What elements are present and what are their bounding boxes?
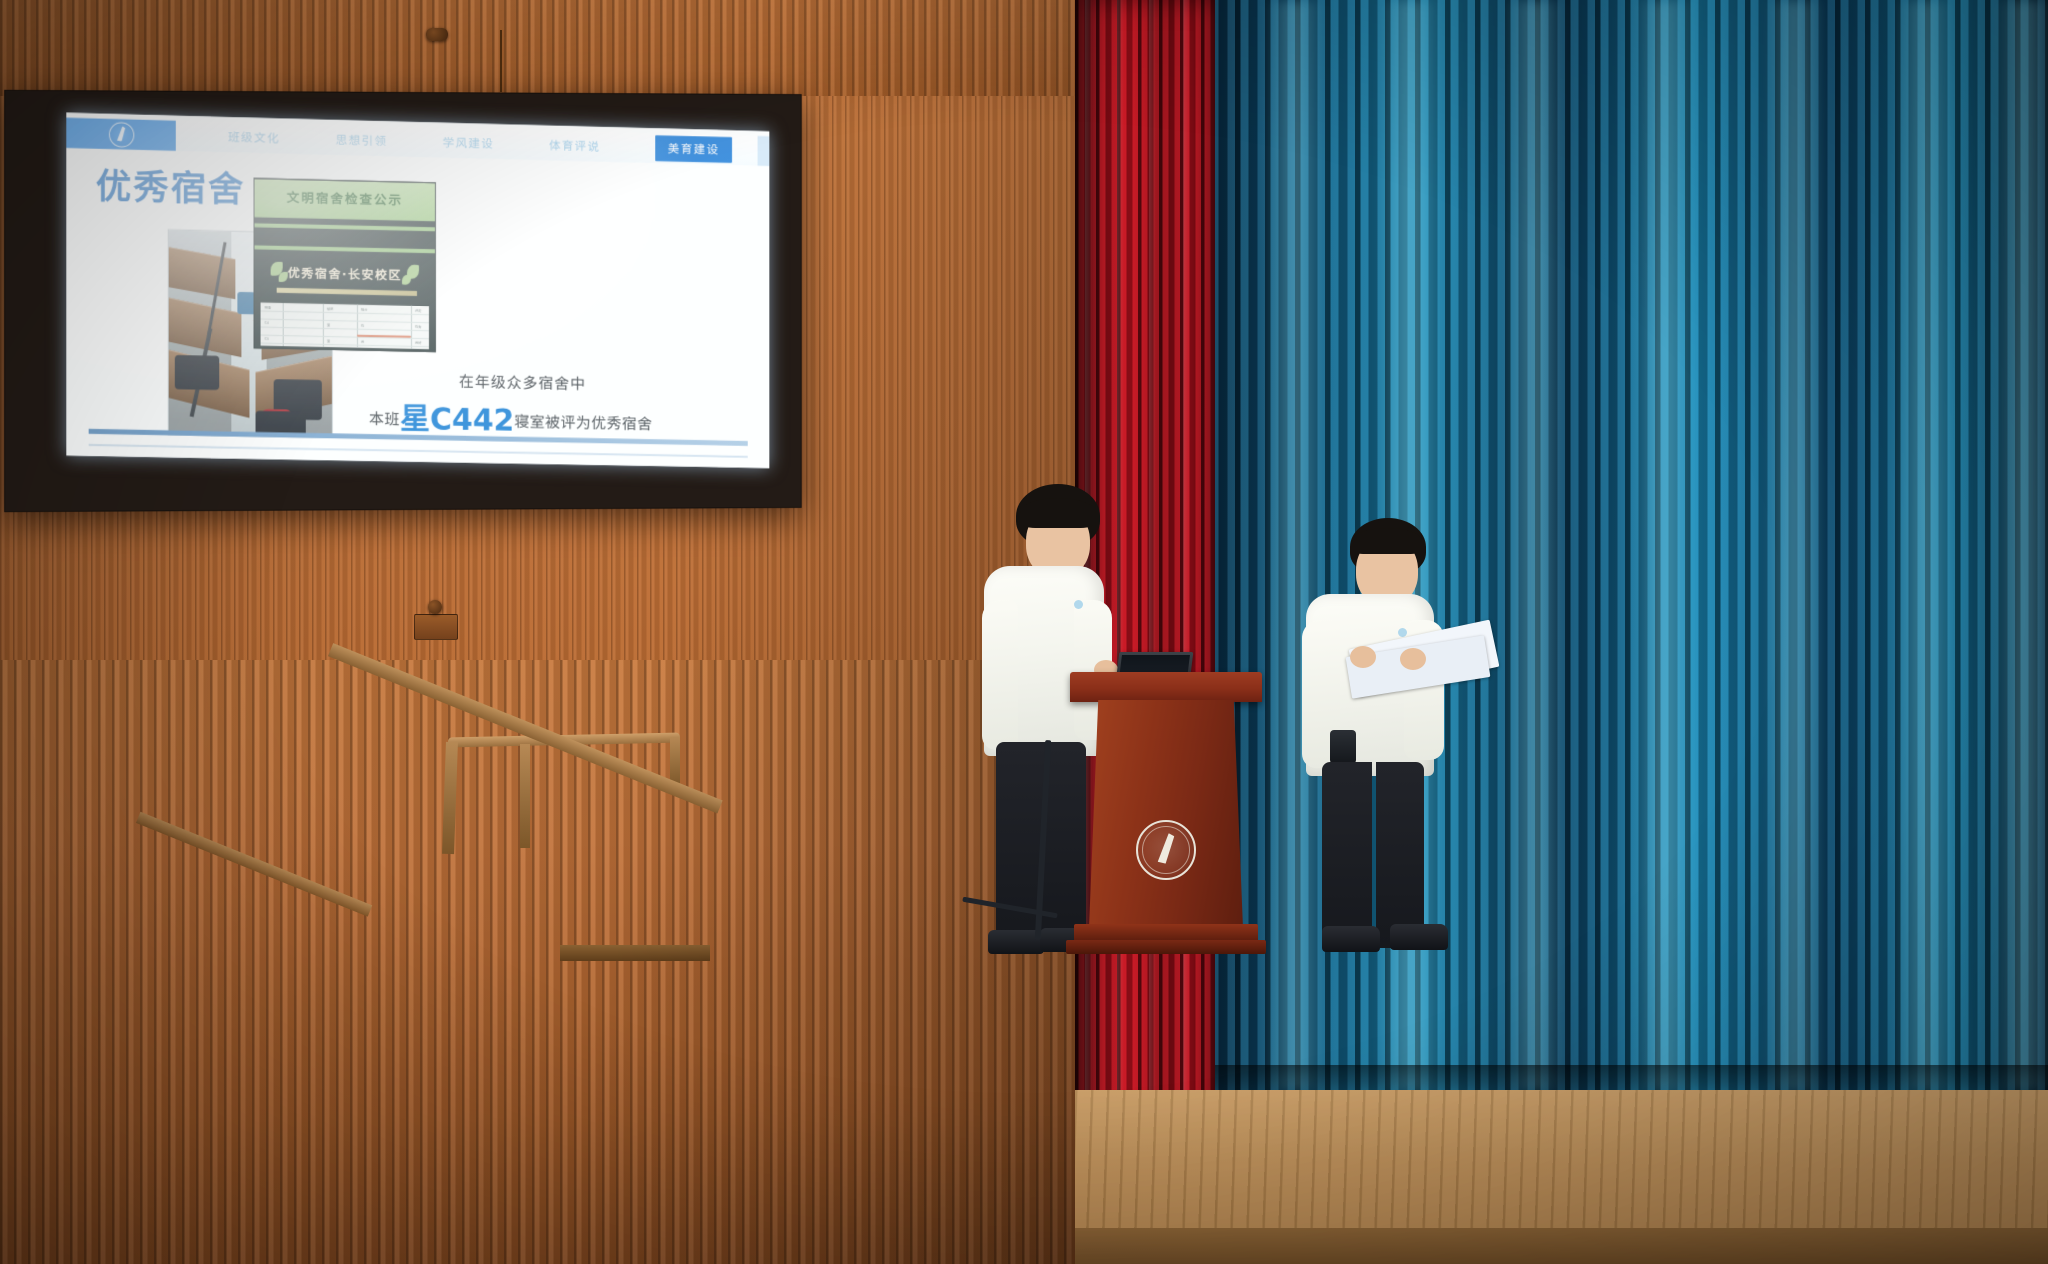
handrail-post-mid — [520, 744, 530, 848]
slide-nav-item-0[interactable]: 班级文化 — [228, 129, 280, 146]
presenter2-left-leg — [1322, 762, 1372, 950]
notice-cell-7: 优秀 — [415, 324, 421, 329]
scene-root: 班级文化 思想引领 学风建设 体育评说 美育建设 优秀宿舍 — [0, 0, 2048, 1264]
notice-cell-3: 评定 — [415, 308, 421, 313]
presenter2-right-leg — [1376, 762, 1424, 948]
notice-cell-2: 得分 — [361, 307, 367, 312]
stage-floor-front-edge — [1075, 1228, 2048, 1264]
slide-footer-bar-thin — [89, 444, 748, 458]
presenter2-pocket-device — [1330, 730, 1356, 764]
caption-suffix: 寝室被评为优秀宿舍 — [514, 413, 652, 434]
slide-nav-items: 班级文化 思想引领 学风建设 体育评说 美育建设 — [176, 121, 770, 166]
slide-nav-item-2[interactable]: 学风建设 — [443, 135, 494, 152]
slide-nav-right-edge — [758, 136, 770, 166]
stair-step — [560, 945, 710, 961]
presenter2-hoodie-logo — [1398, 628, 1407, 637]
wall-outlet-plate — [414, 614, 458, 640]
wall-fixture-knob — [426, 28, 448, 41]
slide-caption-line1: 在年级众多宿舍中 — [459, 371, 586, 394]
notice-score-table: 宿舍 楼层 得分 评定 C4 星 优 优秀 C5 星 良 良好 — [261, 303, 429, 350]
notice-subtitle-band: 优秀宿舍·长安校区 — [255, 257, 435, 297]
crest-inner-ring — [1142, 826, 1190, 874]
wooden-wall-top-trim — [0, 0, 1075, 96]
presenter1-fringe — [1020, 498, 1096, 528]
notice-cell-0: 宿舍 — [265, 305, 271, 310]
slide-logo-container — [66, 118, 176, 151]
caption-prefix: 本班 — [369, 410, 400, 429]
wooden-wall-lower-panel — [0, 660, 1075, 1264]
presenter2-right-shoe — [1390, 924, 1448, 950]
slide-nav-item-3[interactable]: 体育评说 — [549, 137, 600, 154]
presenter2-left-shoe — [1322, 926, 1380, 952]
podium-top-surface — [1070, 672, 1262, 702]
university-seal-logo — [108, 121, 133, 147]
presenter2-left-hand — [1350, 646, 1376, 668]
notice-cell-9: 星 — [327, 338, 330, 343]
notice-cell-4: C4 — [265, 321, 269, 325]
podium-plinth — [1066, 940, 1266, 954]
university-crest-emblem — [1136, 820, 1196, 880]
notice-cell-11: 良好 — [415, 340, 421, 345]
notice-header-band: 文明宿舍检查公示 — [255, 179, 435, 221]
slide-title: 优秀宿舍 — [96, 158, 246, 213]
presentation-slide: 班级文化 思想引领 学风建设 体育评说 美育建设 优秀宿舍 — [66, 113, 769, 468]
notice-cell-10: 良 — [361, 339, 364, 344]
wall-wire — [500, 30, 502, 92]
notice-cell-8: C5 — [265, 337, 269, 341]
slide-nav-item-4-active[interactable]: 美育建设 — [655, 135, 732, 163]
dormitory-notice-board-image: 文明宿舍检查公示 优秀宿舍·长安校区 — [254, 178, 436, 352]
projection-screen-frame: 班级文化 思想引领 学风建设 体育评说 美育建设 优秀宿舍 — [4, 90, 801, 512]
presenter2-right-hand — [1400, 648, 1426, 670]
wall-fixture-knob-lower — [428, 600, 442, 614]
presenter2-fringe — [1352, 528, 1422, 554]
notice-cell-5: 星 — [327, 322, 330, 327]
wooden-podium — [1070, 672, 1262, 962]
presenter1-left-sleeve — [982, 600, 1018, 750]
notice-cell-6: 优 — [361, 323, 364, 328]
caption-highlight: 星C442 — [400, 402, 514, 439]
projection-screen-display[interactable]: 班级文化 思想引领 学风建设 体育评说 美育建设 优秀宿舍 — [66, 113, 769, 468]
notice-header-text: 文明宿舍检查公示 — [255, 186, 435, 209]
slide-nav-item-1[interactable]: 思想引领 — [336, 132, 388, 149]
notice-cell-1: 楼层 — [327, 306, 333, 311]
presenter1-hoodie-logo — [1074, 600, 1083, 609]
podium-body — [1089, 700, 1243, 928]
slide-navigation-bar: 班级文化 思想引领 学风建设 体育评说 美育建设 — [66, 118, 769, 166]
